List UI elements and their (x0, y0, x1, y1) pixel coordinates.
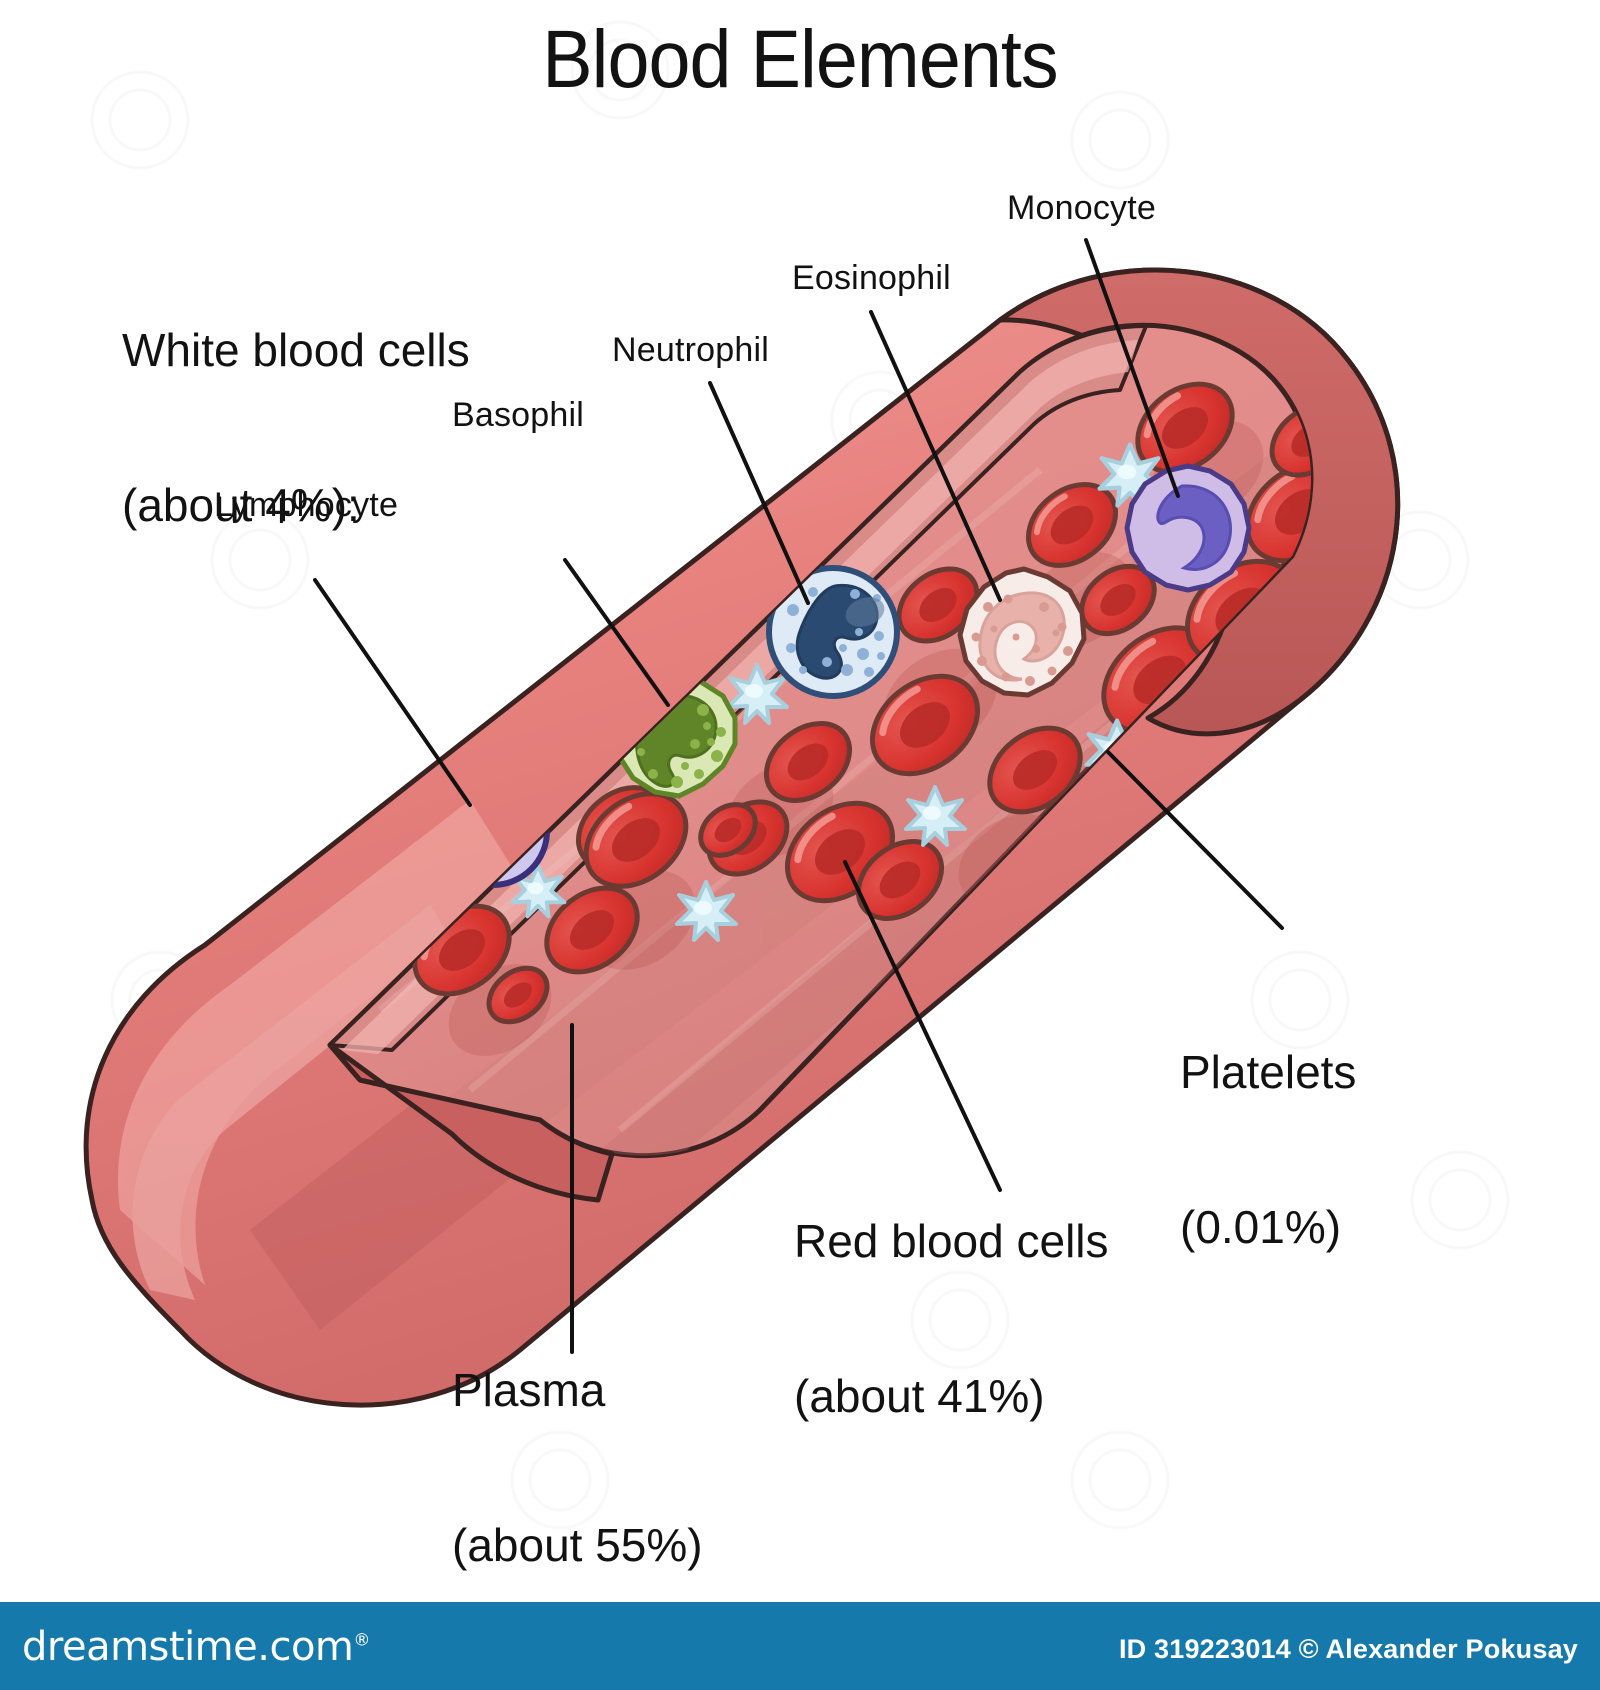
dreamstime-logo[interactable]: dreamstime.com® (22, 1624, 370, 1670)
label-eosinophil: Eosinophil (792, 259, 951, 297)
label-neutrophil: Neutrophil (612, 331, 769, 369)
label-basophil: Basophil (452, 396, 584, 434)
page-title: Blood Elements (64, 14, 1536, 106)
registered-mark-icon: ® (353, 1631, 370, 1651)
dreamstime-logo-text: dreamstime.com (22, 1624, 353, 1670)
label-red-blood-cells: Red blood cells (about 41%) (794, 1113, 1109, 1525)
image-credit: ID 319223014 © Alexander Pokusay (1119, 1634, 1578, 1665)
label-rbc-line-2: (about 41%) (794, 1371, 1109, 1423)
label-platelets-line-1: Platelets (1180, 1047, 1356, 1099)
label-platelets-line-2: (0.01%) (1180, 1202, 1356, 1254)
label-plasma-line-1: Plasma (452, 1365, 703, 1417)
label-plasma-line-2: (about 55%) (452, 1520, 703, 1572)
white-blood-cells-heading: White blood cells (about 4%): (122, 222, 470, 634)
label-lymphocyte: Lymphocyte (214, 486, 398, 524)
label-monocyte: Monocyte (1007, 189, 1156, 227)
label-rbc-line-1: Red blood cells (794, 1216, 1109, 1268)
label-platelets: Platelets (0.01%) (1180, 944, 1356, 1356)
diagram-canvas: Blood Elements White blood cells (about … (0, 0, 1600, 1690)
wbc-heading-line-1: White blood cells (122, 325, 470, 377)
monocyte-cell (1127, 466, 1249, 590)
